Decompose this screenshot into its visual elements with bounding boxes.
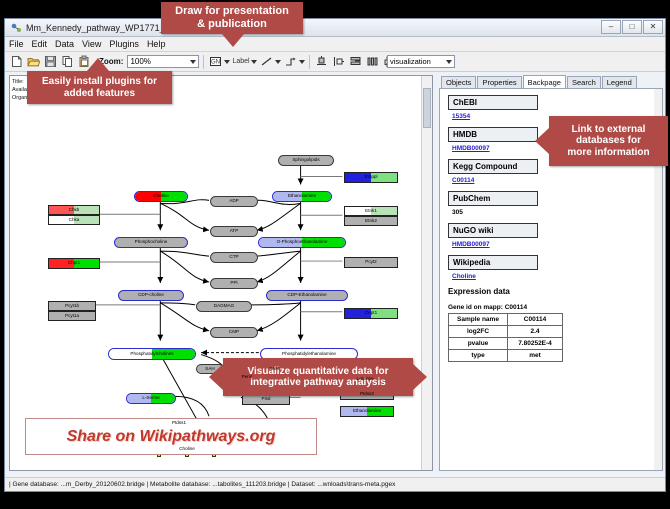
menu-item-plugins[interactable]: Plugins [109, 39, 139, 49]
node-label: Choline [179, 447, 195, 452]
callout-plugins-line2: added features [64, 88, 135, 100]
callout-draw-line2: & publication [197, 18, 267, 31]
close-button[interactable]: ✕ [643, 20, 663, 34]
node-label: Pisd [262, 397, 271, 402]
db-value-pubchem: 305 [452, 209, 662, 216]
menu-item-help[interactable]: Help [147, 39, 166, 49]
expr-val-pvalue: 7.80252E-4 [508, 338, 563, 350]
metabolite-node-phosphocholine[interactable]: Phosphocholine [114, 237, 188, 248]
expression-data-title: Expression data [448, 287, 662, 296]
stack-icon[interactable] [348, 54, 363, 69]
svg-text:GN: GN [211, 60, 220, 66]
window-controls: – □ ✕ [601, 20, 663, 34]
db-header-wikipedia: Wikipedia [448, 255, 538, 270]
node-label: Pcyt2 [365, 260, 377, 265]
copy-icon[interactable] [60, 54, 75, 69]
pathway-canvas[interactable]: Title: Availa Organ [9, 75, 433, 471]
expr-val-sample: C00114 [508, 314, 563, 326]
metabolite-node-cmp[interactable]: CMP [210, 327, 258, 338]
metabolite-node-atp[interactable]: ATP [210, 226, 258, 237]
table-row: pvalue 7.80252E-4 [449, 338, 563, 350]
node-label: Pcyt1a [65, 314, 79, 319]
gene-node-etnk1[interactable]: Etnk1 [344, 206, 398, 216]
metabolite-node-ethanolamine[interactable]: Ethanolamine [272, 191, 332, 202]
callout-draw: Draw for presentation & publication [161, 2, 303, 34]
metabolite-node-adp[interactable]: ADP [210, 196, 258, 207]
gene-node-pcyt1b[interactable]: Pcyt1b [48, 301, 96, 311]
gene-node-ethanolamine_gene[interactable]: Ethanolamine [340, 406, 394, 417]
node-label: Ethanolamine [288, 194, 316, 199]
metabolite-node-ctp[interactable]: CTP [210, 252, 258, 263]
table-row: log2FC 2.4 [449, 326, 563, 338]
toolbar-divider [309, 55, 310, 69]
callout-draw-line1: Draw for presentation [175, 5, 289, 18]
chevron-down-icon[interactable] [299, 60, 305, 64]
datanode-tool-group[interactable]: GN [208, 54, 230, 69]
canvas-vscroll-thumb[interactable] [423, 88, 431, 128]
screenshot-root: Mm_Kennedy_pathway_WP1771_45176.gpml – □… [0, 0, 670, 509]
metabolite-node-choline_top[interactable]: Choline [134, 191, 188, 202]
callout-plugins: Easily install plugins for added feature… [27, 71, 172, 104]
metabolite-node-ppi[interactable]: PPi [210, 278, 258, 289]
tab-objects[interactable]: Objects [441, 76, 476, 88]
node-label: Etnk2 [365, 219, 377, 224]
node-label: O-Phosphoethanolamine [277, 240, 328, 245]
maximize-button[interactable]: □ [622, 20, 642, 34]
node-label: Phosphatidylcholines [130, 352, 173, 357]
gene-node-pcyt2[interactable]: Pcyt2 [344, 257, 398, 268]
node-label: SAM [269, 367, 279, 372]
menu-item-file[interactable]: File [9, 39, 24, 49]
node-label: Etnk1 [365, 209, 377, 214]
interaction-tool-group[interactable] [283, 54, 305, 69]
callout-plugins-line1: Easily install plugins for [42, 76, 157, 88]
chevron-down-icon[interactable] [224, 60, 230, 64]
tab-properties[interactable]: Properties [477, 76, 521, 88]
metabolite-node-sphingolipids[interactable]: Sphingolipids [278, 155, 334, 166]
tab-legend[interactable]: Legend [602, 76, 637, 88]
chevron-down-icon[interactable] [275, 60, 281, 64]
db-link-wikipedia[interactable]: Choline [452, 273, 662, 280]
node-label: Etnppl [364, 175, 377, 180]
chevron-down-icon [190, 60, 196, 64]
zoom-value: 100% [130, 57, 150, 66]
node-label: Phosphatidylethanolamine [282, 352, 336, 357]
node-label: ATP [230, 229, 239, 234]
node-label: CTP [229, 255, 238, 260]
node-label: Chpt1 [68, 261, 80, 266]
node-label: CMP [229, 330, 239, 335]
canvas-vscrollbar[interactable] [421, 76, 432, 470]
visualization-value: visualization [390, 57, 431, 66]
node-label: Choline [153, 194, 169, 199]
node-label: ADP [229, 199, 238, 204]
metabolite-node-cdpcholine[interactable]: CDP-choline [118, 290, 184, 301]
metabolite-node-dagmag[interactable]: DAGMAG [196, 301, 252, 312]
status-text: | Gene database: ...m_Derby_20120602.bri… [9, 481, 395, 488]
node-label: L-Serine [142, 396, 159, 401]
db-header-nugowiki: NuGO wiki [448, 223, 538, 238]
tab-search[interactable]: Search [567, 76, 601, 88]
node-label: Sphingolipids [292, 158, 319, 163]
callout-links-line1: Link to external [572, 124, 646, 136]
tab-backpage[interactable]: Backpage [523, 75, 566, 88]
gene-node-cept1[interactable]: Cept1 [344, 308, 398, 319]
node-label: Ptdss1 [172, 421, 186, 426]
node-label: Pcyt1b [65, 304, 79, 309]
callout-links-line3: more information [567, 147, 649, 159]
menu-item-data[interactable]: Data [55, 39, 74, 49]
db-header-kegg: Kegg Compound [448, 159, 538, 174]
datanode-icon[interactable]: GN [208, 54, 223, 69]
gene-node-etnk2[interactable]: Etnk2 [344, 216, 398, 226]
gene-node-chkb[interactable]: Chkb [48, 205, 100, 215]
node-label: L-Serine [356, 377, 373, 382]
meta-title-label: Title: [12, 78, 27, 86]
pathway-meta-labels: Title: Availa Organ [12, 78, 27, 102]
gene-node-chka[interactable]: Chka [48, 215, 100, 225]
node-label: CDP-choline [138, 293, 164, 298]
menu-item-edit[interactable]: Edit [32, 39, 48, 49]
db-header-hmdb: HMDB [448, 127, 538, 142]
expr-val-type: met [508, 350, 563, 362]
visualization-select[interactable]: visualization [387, 55, 455, 68]
callout-links-line2: databases for [576, 135, 641, 147]
metabolite-node-lserine_left[interactable]: L-Serine [126, 393, 176, 404]
status-bar: | Gene database: ...m_Derby_20120602.bri… [5, 477, 665, 491]
node-label: Ethanolamine [353, 409, 381, 414]
gene-id-line: Gene id on mapp: C00114 [448, 304, 662, 311]
node-label: Ptdss2 [360, 392, 374, 397]
table-row: type met [449, 350, 563, 362]
callout-links-arrow-icon [535, 128, 549, 154]
node-label: DAGMAG [214, 304, 234, 309]
align-top-icon[interactable] [314, 54, 329, 69]
sidebar-tabs: Objects Properties Backpage Search Legen… [437, 75, 663, 88]
menu-bar: File Edit Data View Plugins Help [5, 37, 665, 52]
line-icon[interactable] [259, 54, 274, 69]
node-label: SAH [205, 367, 214, 372]
expr-key-log2fc: log2FC [449, 326, 508, 338]
gene-node-pcyt1a[interactable]: Pcyt1a [48, 311, 96, 321]
expr-key-type: type [449, 350, 508, 362]
node-label: Chka [69, 218, 80, 223]
expression-table: Sample name C00114 log2FC 2.4 pvalue 7.8… [448, 313, 563, 362]
save-file-icon[interactable] [43, 54, 58, 69]
chevron-down-icon[interactable] [251, 60, 257, 64]
callout-plugins-arrow-icon [87, 58, 109, 71]
distribute-icon[interactable] [365, 54, 380, 69]
db-link-kegg[interactable]: C00114 [452, 177, 662, 184]
interaction-icon[interactable] [283, 54, 298, 69]
line-tool-group[interactable] [259, 54, 281, 69]
menu-item-view[interactable]: View [82, 39, 101, 49]
pathvisio-icon [10, 22, 22, 34]
node-label: Phosphocholine [135, 240, 168, 245]
expr-val-log2fc: 2.4 [508, 326, 563, 338]
expr-key-pvalue: pvalue [449, 338, 508, 350]
meta-organism-label: Organ [12, 94, 27, 102]
gene-node-chpt1[interactable]: Chpt1 [48, 258, 100, 269]
chevron-down-icon [446, 60, 452, 64]
metabolite-node-ophosphoetha[interactable]: O-Phosphoethanolamine [258, 237, 346, 248]
toolbar-divider [203, 55, 204, 69]
meta-availability-label: Availa [12, 86, 27, 94]
callout-links: Link to external databases for more info… [549, 116, 668, 166]
db-link-nugowiki[interactable]: HMDB00097 [452, 241, 662, 248]
gene-node-etnppl[interactable]: Etnppl [344, 172, 398, 183]
node-label: Pemt [242, 375, 253, 380]
zoom-select[interactable]: 100% [127, 55, 199, 68]
title-bar: Mm_Kennedy_pathway_WP1771_45176.gpml – □… [5, 19, 665, 37]
expr-key-sample: Sample name [449, 314, 508, 326]
metabolite-node-ptdcholine[interactable]: Phosphatidylcholines [108, 348, 196, 360]
callout-visualize-arrow-right-icon [413, 364, 427, 390]
node-label: CDP-Ethanolamine [287, 293, 326, 298]
minimize-button[interactable]: – [601, 20, 621, 34]
callout-share-text: Share on Wikipathways.org [67, 428, 276, 446]
callout-draw-arrow-icon [222, 34, 244, 47]
db-header-pubchem: PubChem [448, 191, 538, 206]
node-label: PPi [230, 281, 237, 286]
align-left-icon[interactable] [331, 54, 346, 69]
label-tool-text[interactable]: Label [232, 58, 249, 65]
open-file-icon[interactable] [26, 54, 41, 69]
table-row: Sample name C00114 [449, 314, 563, 326]
new-file-icon[interactable] [9, 54, 24, 69]
metabolite-node-cdpethanol[interactable]: CDP-Ethanolamine [266, 290, 348, 301]
label-tool-group[interactable]: Label [232, 58, 256, 65]
node-label: Chkb [69, 208, 80, 213]
db-header-chebi: ChEBI [448, 95, 538, 110]
node-label: Cept1 [365, 311, 377, 316]
